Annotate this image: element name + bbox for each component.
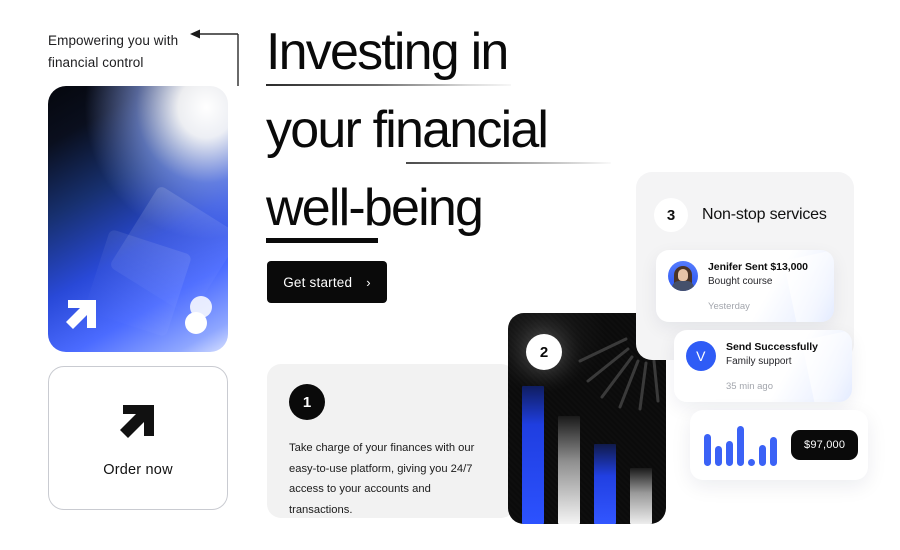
dark-bar: [594, 444, 616, 524]
notification-time: 35 min ago: [726, 381, 773, 392]
notification-title: Jenifer Sent $13,000: [708, 261, 808, 273]
get-started-label: Get started: [283, 275, 352, 290]
dark-bar: [522, 386, 544, 524]
headline-text-1: Investing in: [266, 24, 666, 80]
headline-line-1: Investing in: [266, 24, 666, 86]
notification-subtitle: Bought course: [708, 276, 808, 287]
mini-bar: [715, 446, 722, 466]
services-title: Non-stop services: [702, 206, 827, 224]
step-1-body: Take charge of your finances with our ea…: [289, 438, 493, 521]
dark-bar: [630, 468, 652, 524]
avatar: [668, 261, 698, 291]
tagline-text: Empowering you with financial control: [48, 30, 198, 75]
headline-rule-2: [406, 162, 611, 164]
mini-bar-dot: [748, 459, 755, 466]
step-1-badge: 1: [289, 384, 325, 420]
step-1-card: 1 Take charge of your finances with our …: [267, 364, 515, 518]
headline-rule-1: [266, 84, 511, 86]
mini-bar: [726, 441, 733, 466]
mini-bar: [759, 445, 766, 466]
amount-badge: $97,000: [791, 430, 858, 460]
balance-chart-card[interactable]: $97,000: [690, 410, 868, 480]
order-now-label: Order now: [103, 462, 173, 478]
notification-subtitle: Family support: [726, 356, 818, 367]
headline-text-2: your financial: [266, 102, 666, 158]
order-now-card[interactable]: Order now: [48, 366, 228, 510]
dual-circles-icon: [174, 296, 212, 334]
notification-time: Yesterday: [708, 301, 750, 312]
mini-bar-chart: [704, 424, 777, 466]
chevron-right-icon: ›: [366, 276, 371, 289]
arrow-up-right-logo: [115, 398, 161, 446]
get-started-button[interactable]: Get started ›: [267, 261, 387, 303]
step-2-badge: 2: [526, 334, 562, 370]
avatar: V: [686, 341, 716, 371]
headline-line-2: your financial: [266, 102, 666, 164]
mini-bar: [770, 437, 777, 466]
mini-bar: [737, 426, 744, 466]
headline-line-3: well-being: [266, 180, 666, 243]
notification-item[interactable]: V Send Successfully Family support 35 mi…: [674, 330, 852, 402]
arrow-up-right-logo: [62, 294, 102, 336]
dark-bar: [558, 416, 580, 524]
landing-page-root: Empowering you with financial control Or…: [0, 0, 900, 550]
curved-arrow-left-icon: [186, 26, 242, 88]
gradient-credit-card[interactable]: [48, 86, 228, 352]
mini-bar: [704, 434, 711, 466]
dark-card-bar-chart: [522, 384, 666, 524]
headline-rule-3: [266, 238, 378, 243]
notification-title: Send Successfully: [726, 341, 818, 353]
page-title: Investing in your financial well-being: [266, 24, 666, 259]
step-3-badge: 3: [654, 198, 688, 232]
headline-text-3: well-being: [266, 180, 666, 236]
services-header: 3 Non-stop services: [654, 198, 827, 232]
notification-item[interactable]: Jenifer Sent $13,000 Bought course Yeste…: [656, 250, 834, 322]
notification-content: Jenifer Sent $13,000 Bought course: [668, 261, 808, 291]
notification-content: V Send Successfully Family support: [686, 341, 818, 371]
